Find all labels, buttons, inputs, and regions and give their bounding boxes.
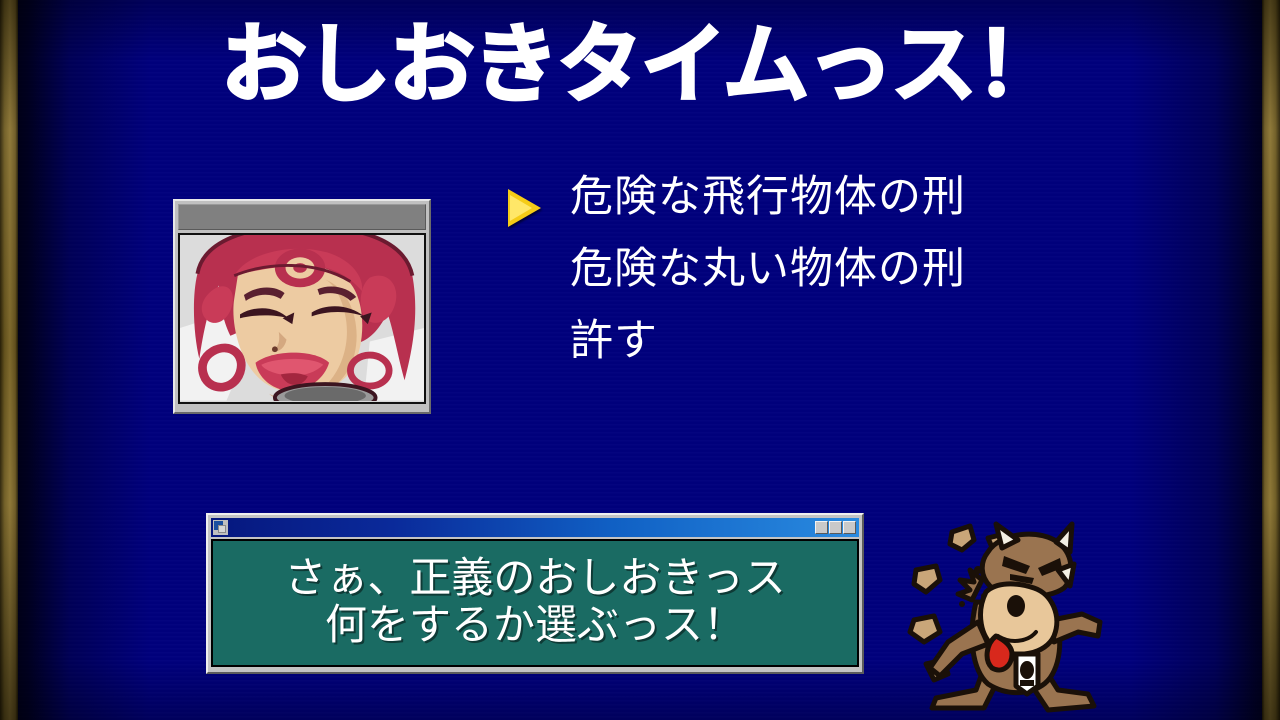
list-item[interactable]: 危険な丸い物体の刑: [508, 248, 1108, 320]
list-item-label: 許す: [570, 320, 658, 363]
mascot-character: [892, 518, 1122, 720]
dialog-message-body: さぁ、正義のおしおきっス 何をするか選ぶっス！: [211, 539, 859, 667]
angry-brown-dog-mascot-image: [892, 518, 1122, 720]
slide-title: おしおきタイムっス！: [0, 20, 1280, 110]
bullet-marker-slot: [508, 176, 570, 227]
window-system-icon[interactable]: [213, 520, 228, 535]
maximize-button[interactable]: [829, 521, 842, 534]
close-button[interactable]: [843, 521, 856, 534]
list-item[interactable]: 危険な飛行物体の刑: [508, 176, 1108, 248]
yellow-triangle-bullet-icon: [508, 189, 541, 227]
list-item[interactable]: 許す: [508, 320, 1108, 392]
bullet-list: 危険な飛行物体の刑 危険な丸い物体の刑 許す: [508, 176, 1108, 392]
list-item-label: 危険な飛行物体の刑: [570, 176, 966, 219]
bullet-marker-slot: [508, 320, 570, 333]
anime-woman-portrait-image: [180, 235, 424, 401]
message-dialog-window: さぁ、正義のおしおきっス 何をするか選ぶっス！: [206, 513, 864, 674]
dialog-titlebar[interactable]: [211, 518, 859, 537]
picture-frame-body: [178, 233, 426, 404]
dialog-line-2: 何をするか選ぶっス！: [325, 603, 745, 650]
picture-frame: [173, 199, 431, 414]
dialog-line-1: さぁ、正義のおしおきっス: [284, 556, 785, 603]
list-item-label: 危険な丸い物体の刑: [570, 248, 966, 291]
picture-frame-titlebar: [178, 204, 426, 230]
window-controls: [815, 521, 857, 534]
presentation-slide: おしおきタイムっス！: [0, 0, 1280, 720]
minimize-button[interactable]: [815, 521, 828, 534]
bullet-marker-slot: [508, 248, 570, 261]
